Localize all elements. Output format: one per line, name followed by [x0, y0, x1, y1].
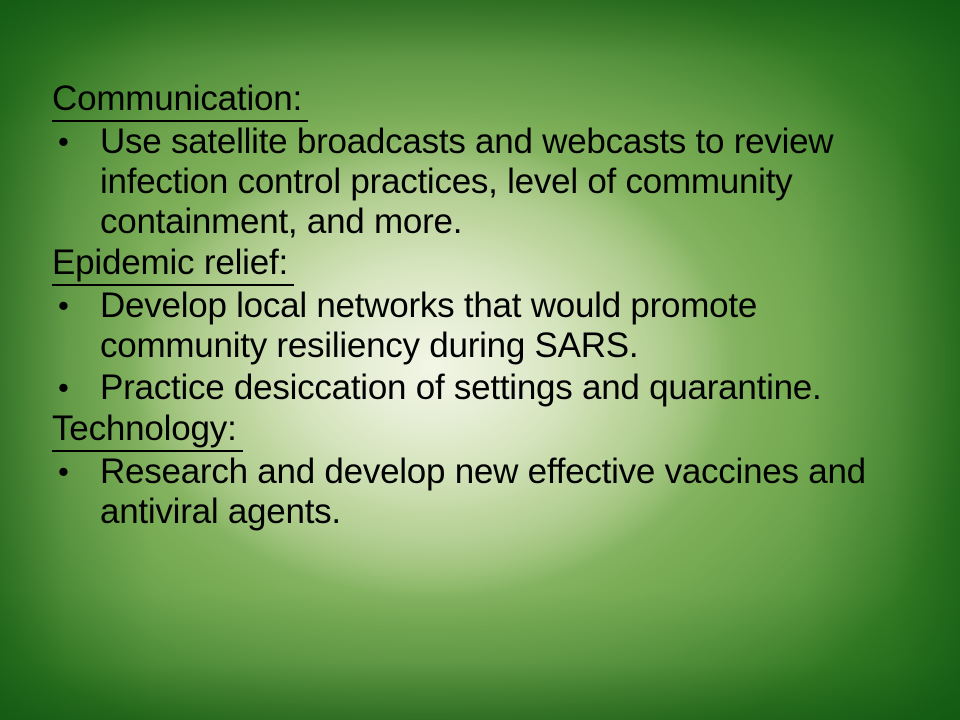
- section-heading-text: Technology:: [52, 408, 243, 452]
- section-communication: Communication: • Use satellite broadcast…: [52, 78, 922, 242]
- bullet-item-text: Practice desiccation of settings and qua…: [100, 368, 900, 408]
- bullet-item: • Use satellite broadcasts and webcasts …: [52, 122, 922, 242]
- bullet-item-text: Research and develop new effective vacci…: [100, 452, 900, 532]
- bullet-point-icon: •: [52, 122, 100, 162]
- slide-canvas: Communication: • Use satellite broadcast…: [0, 0, 960, 720]
- bullet-item: • Practice desiccation of settings and q…: [52, 368, 922, 408]
- bullet-item: • Research and develop new effective vac…: [52, 452, 922, 532]
- bullet-item: • Develop local networks that would prom…: [52, 286, 922, 366]
- bullet-item-text: Use satellite broadcasts and webcasts to…: [100, 122, 900, 242]
- bullet-point-icon: •: [52, 452, 100, 492]
- bullet-item-text: Develop local networks that would promot…: [100, 286, 900, 366]
- section-heading-text: Epidemic relief:: [52, 242, 294, 286]
- bullet-point-icon: •: [52, 368, 100, 408]
- bullet-point-icon: •: [52, 286, 100, 326]
- section-heading-text: Communication:: [52, 78, 308, 122]
- section-heading: Technology:: [52, 408, 922, 452]
- section-heading: Communication:: [52, 78, 922, 122]
- slide-body-text: Communication: • Use satellite broadcast…: [52, 78, 922, 532]
- section-heading: Epidemic relief:: [52, 242, 922, 286]
- section-technology: Technology: • Research and develop new e…: [52, 408, 922, 532]
- section-epidemic-relief: Epidemic relief: • Develop local network…: [52, 242, 922, 408]
